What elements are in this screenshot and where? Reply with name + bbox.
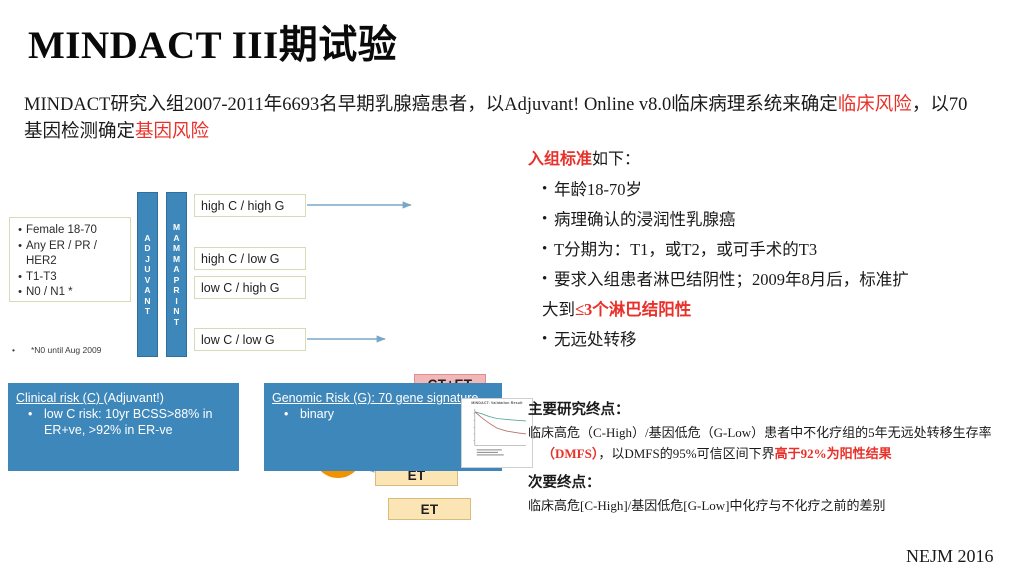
km-curve-thumbnail: MINDACT: Validation Result — [461, 398, 533, 468]
intro-highlight-clinical-risk: 临床风险 — [838, 95, 912, 115]
bullet-icon: • — [542, 234, 547, 264]
footnote-text: *N0 until Aug 2009 — [31, 345, 101, 355]
inclusion-item-text: 要求入组患者淋巴结阴性；2009年8月后，标准扩 — [554, 270, 909, 289]
inclusion-item-text: 无远处转移 — [554, 330, 637, 349]
primary-endpoint-line-1: 临床高危（C-High）/基因低危（G-Low）患者中不化疗组的5年无远处转移生… — [528, 422, 1018, 443]
genomic-risk-heading-underlined: Genomic Risk (G): 70 gene signature — [272, 391, 478, 405]
inclusion-item-text: 年龄18-70岁 — [554, 180, 642, 199]
clinical-risk-body-text: low C risk: 10yr BCSS>88% in ER+ve, >92%… — [44, 407, 212, 437]
genomic-risk-body-text: binary — [300, 407, 334, 421]
clinical-risk-body: • low C risk: 10yr BCSS>88% in ER+ve, >9… — [16, 407, 231, 438]
inclusion-item: • 要求入组患者淋巴结阴性；2009年8月后，标准扩 — [528, 265, 1014, 295]
genomic-risk-box: Genomic Risk (G): 70 gene signature • bi… — [264, 383, 502, 471]
inclusion-criteria-title: 入组标准如下： — [528, 145, 1014, 169]
source-citation: NEJM 2016 — [906, 546, 994, 567]
intro-highlight-genomic-risk: 基因风险 — [135, 122, 209, 142]
inclusion-item: • 病理确认的浸润性乳腺癌 — [528, 205, 1014, 235]
slide-canvas: MINDACT III期试验 MINDACT研究入组2007-2011年6693… — [0, 0, 1026, 580]
inclusion-item: • 无远处转移 — [528, 325, 1014, 355]
bullet-icon: • — [28, 407, 32, 423]
bullet-icon: • — [542, 174, 547, 204]
inclusion-criteria-panel: 入组标准如下： • 年龄18-70岁 • 病理确认的浸润性乳腺癌 • T分期为：… — [528, 145, 1014, 355]
endpoints-panel: 主要研究终点： 临床高危（C-High）/基因低危（G-Low）患者中不化疗组的… — [528, 398, 1018, 516]
inclusion-title-highlight: 入组标准 — [528, 151, 592, 168]
secondary-endpoint-line: 临床高危[C-High]/基因低危[G-Low]中化疗与不化疗之前的差别 — [528, 495, 1018, 516]
page-title: MINDACT III期试验 — [28, 14, 397, 70]
primary-endpoint-line-2: （DMFS），以DMFS的95%可信区间下界高于92%为阳性结果 — [528, 443, 1018, 464]
intro-segment-1: MINDACT研究入组2007-2011年6693名早期乳腺癌患者，以Adjuv… — [24, 95, 838, 115]
dmfs-label: （DMFS） — [542, 446, 598, 461]
bullet-icon: • — [284, 407, 288, 423]
bullet-icon: • — [12, 345, 15, 355]
inclusion-item-continuation: 大到≤3个淋巴结阳性 — [528, 295, 1014, 325]
diagram-footnote: •*N0 until Aug 2009 — [12, 345, 101, 355]
inclusion-title-rest: 如下： — [592, 151, 640, 168]
treatment-et-bottom: ET — [388, 498, 471, 520]
primary-endpoint-line-2-black: ，以DMFS的95%可信区间下界 — [598, 446, 774, 461]
primary-endpoint-threshold: 高于92%为阳性结果 — [775, 446, 892, 461]
bullet-icon: • — [542, 324, 547, 354]
bullet-icon: • — [542, 204, 547, 234]
clinical-risk-heading-rest: (Adjuvant!) — [104, 391, 164, 405]
secondary-endpoint-heading: 次要终点： — [528, 471, 1018, 492]
inclusion-item: • 年龄18-70岁 — [528, 175, 1014, 205]
inclusion-item: • T分期为：T1，或T2，或可手术的T3 — [528, 235, 1014, 265]
bullet-icon: • — [542, 264, 547, 294]
intro-paragraph: MINDACT研究入组2007-2011年6693名早期乳腺癌患者，以Adjuv… — [24, 92, 984, 146]
km-curve-plot — [462, 405, 532, 459]
inclusion-item-text: T分期为：T1，或T2，或可手术的T3 — [554, 240, 817, 259]
continuation-red-text: ≤3个淋巴结阳性 — [575, 300, 691, 319]
clinical-risk-box: Clinical risk (C) (Adjuvant!) • low C ri… — [8, 383, 239, 471]
continuation-black-text: 大到 — [542, 300, 575, 319]
primary-endpoint-heading: 主要研究终点： — [528, 398, 1018, 419]
clinical-risk-heading-underlined: Clinical risk (C) — [16, 391, 104, 405]
inclusion-item-text: 病理确认的浸润性乳腺癌 — [554, 210, 736, 229]
clinical-risk-heading: Clinical risk (C) (Adjuvant!) — [16, 391, 231, 405]
